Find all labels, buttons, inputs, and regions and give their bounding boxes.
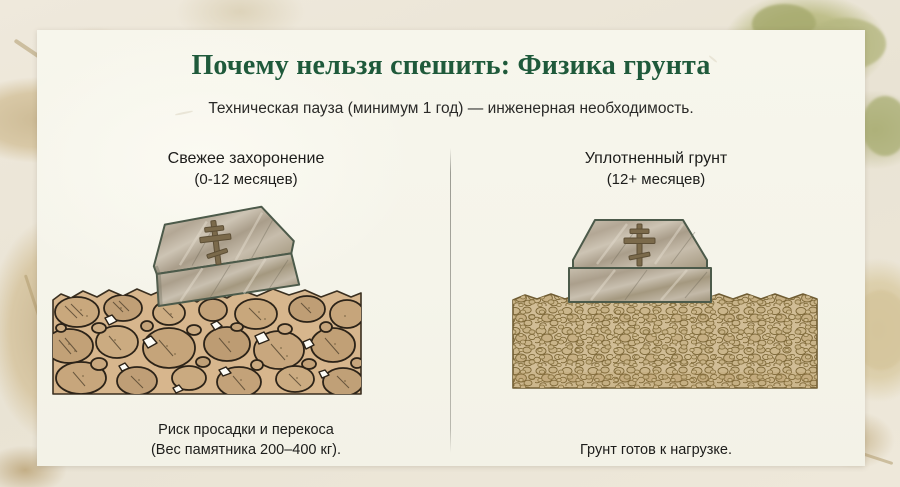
level-gravestone — [557, 212, 717, 294]
caption-line-1: Риск просадки и перекоса — [158, 422, 334, 438]
panel-fresh-burial: Свежее захоронение (0-12 месяцев) — [51, 148, 441, 458]
infographic-card: Почему нельзя спешить: Физика грунта Тех… — [37, 30, 865, 466]
moss-clump — [862, 96, 900, 156]
page-title: Почему нельзя спешить: Физика грунта — [37, 50, 865, 82]
panel-caption-compacted-soil: Грунт готов к нагрузке. — [461, 440, 851, 460]
illustration-compacted-soil — [461, 206, 851, 426]
panel-heading-text: Свежее захоронение — [168, 150, 325, 167]
panel-divider — [450, 148, 451, 453]
panel-heading-fresh-burial: Свежее захоронение (0-12 месяцев) — [51, 148, 441, 190]
panel-caption-fresh-burial: Риск просадки и перекоса (Вес памятника … — [51, 420, 441, 460]
caption-line-1: Грунт готов к нагрузке. — [580, 442, 732, 458]
panel-heading-compacted-soil: Уплотненный грунт (12+ месяцев) — [461, 148, 851, 190]
caption-line-2: (Вес памятника 200–400 кг). — [151, 442, 341, 458]
panel-heading-text: Уплотненный грунт — [585, 150, 728, 167]
page-subtitle: Техническая пауза (минимум 1 год) — инже… — [37, 100, 865, 118]
tilted-gravestone — [134, 197, 303, 298]
panel-heading-period: (12+ месяцев) — [461, 169, 851, 190]
illustration-fresh-burial — [51, 206, 441, 426]
panel-heading-period: (0-12 месяцев) — [51, 169, 441, 190]
panel-compacted-soil: Уплотненный грунт (12+ месяцев) — [461, 148, 851, 458]
